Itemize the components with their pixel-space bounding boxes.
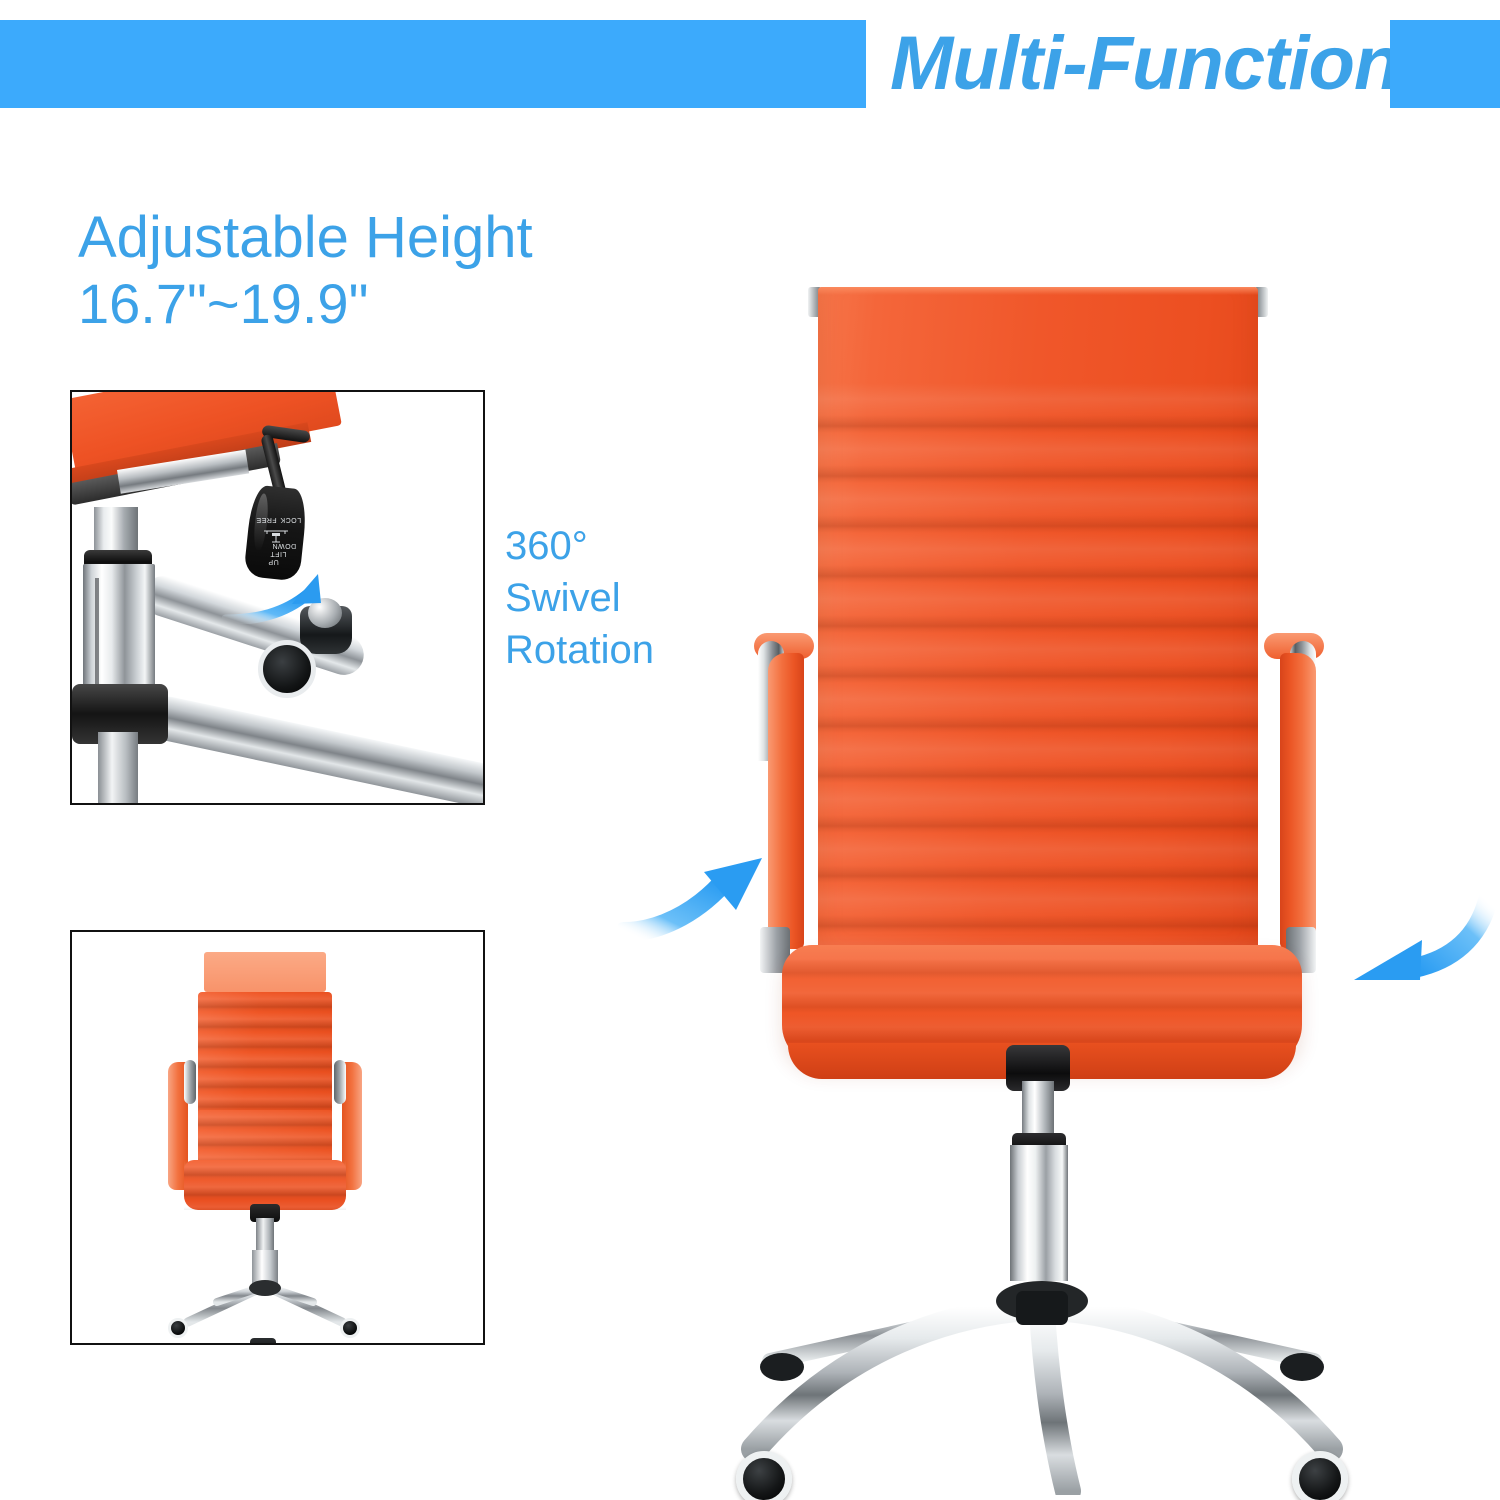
lever-motion-arrow-icon [222,570,332,624]
product-feature-image: Multi-Function Adjustable Height 16.7"~1… [0,0,1500,1500]
lever-label-up: UP [268,558,279,565]
backrest-top-edge [818,287,1258,295]
header-banner: Multi-Function [0,0,1500,130]
front-view-caster-left [168,1318,188,1338]
caster-front-right [1292,1451,1348,1500]
swivel-arrow-right-icon [1318,876,1498,1016]
armrest-pad-right [1280,653,1316,949]
adjustable-height-label: Adjustable Height [78,205,698,271]
backrest-ribbing [818,383,1258,977]
front-view-caster-right [340,1318,360,1338]
base-arm-lower [141,692,485,805]
header-accent-bar-left [0,20,866,108]
chair-backrest [818,287,1258,977]
lever-label-lift: LIFT [270,550,286,557]
front-view-arm-frame-left [184,1060,196,1104]
header-accent-bar-right [1390,20,1500,108]
caster-front-left [736,1451,792,1500]
swivel-arrow-left-icon [618,828,778,948]
front-view-headrest [204,952,326,992]
base-center-stem [98,732,138,804]
inset-gas-lift-closeup: FREE LOCK DOWN LIFT UP [70,390,485,805]
front-view-seat-ribs [184,1160,346,1210]
caster-wheel [258,640,316,698]
inset-front-view-chair [70,930,485,1345]
lever-label-down: DOWN [272,542,296,549]
front-view-scene [72,932,483,1343]
front-view-caster-center [250,1338,276,1345]
gas-lift-scene: FREE LOCK DOWN LIFT UP [72,392,483,803]
lever-label-free: FREE [256,516,277,523]
front-view-arm-frame-right [334,1060,346,1104]
main-product-chair [690,255,1390,1435]
front-view-star-base [172,1276,358,1332]
adjustable-height-block: Adjustable Height 16.7"~19.9" [78,205,698,337]
page-title: Multi-Function [890,12,1390,116]
adjustable-height-value: 16.7"~19.9" [78,271,698,337]
lever-label-lock: LOCK [280,516,301,523]
front-view-seat [184,1160,346,1210]
five-star-base [724,1235,1360,1495]
